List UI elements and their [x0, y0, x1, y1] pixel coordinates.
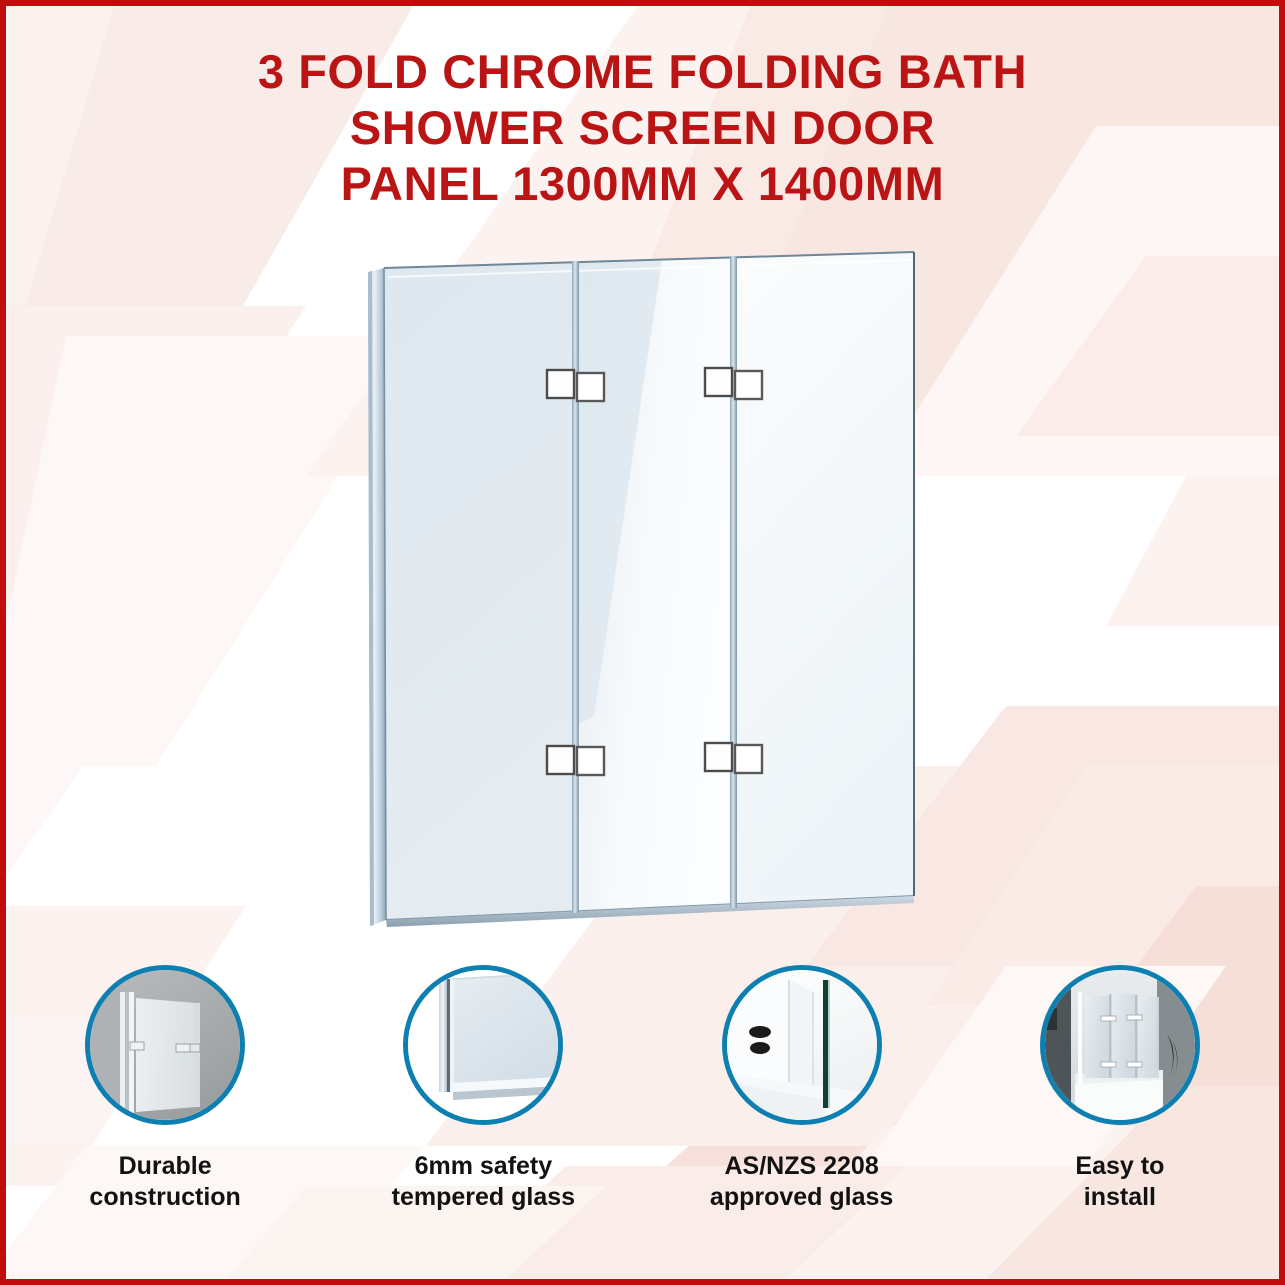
feature-item: Durable construction [6, 965, 324, 1275]
feature-circle [722, 965, 882, 1125]
page-title: 3 FOLD CHROME FOLDING BATH SHOWER SCREEN… [0, 44, 1285, 212]
folded-screen-hinge-icon [90, 970, 240, 1120]
title-line-3: PANEL 1300MM X 1400MM [0, 156, 1285, 212]
feature-list: Durable construction [6, 965, 1279, 1275]
feature-caption: 6mm safety tempered glass [368, 1151, 598, 1213]
shower-screen-graphic [362, 246, 932, 946]
glass-panel-edge-icon [408, 970, 558, 1120]
feature-circle [1040, 965, 1200, 1125]
feature-item: Easy to install [961, 965, 1279, 1275]
feature-caption-line-1: 6mm safety [368, 1151, 598, 1182]
product-image [362, 246, 932, 946]
feature-caption: Durable construction [50, 1151, 280, 1213]
feature-caption: Easy to install [1005, 1151, 1235, 1213]
feature-item: AS/NZS 2208 approved glass [643, 965, 961, 1275]
title-line-2: SHOWER SCREEN DOOR [0, 100, 1285, 156]
feature-caption-line-2: install [1005, 1182, 1235, 1213]
bathroom-corner-glass-icon [727, 970, 877, 1120]
feature-caption-line-1: Easy to [1005, 1151, 1235, 1182]
feature-caption-line-1: Durable [50, 1151, 280, 1182]
feature-caption-line-2: tempered glass [368, 1182, 598, 1213]
feature-caption-line-2: approved glass [687, 1182, 917, 1213]
feature-circle [85, 965, 245, 1125]
installed-bath-screen-icon [1045, 970, 1195, 1120]
feature-caption-line-1: AS/NZS 2208 [687, 1151, 917, 1182]
feature-item: 6mm safety tempered glass [324, 965, 642, 1275]
title-line-1: 3 FOLD CHROME FOLDING BATH [0, 44, 1285, 100]
feature-caption: AS/NZS 2208 approved glass [687, 1151, 917, 1213]
product-listing-image: 3 FOLD CHROME FOLDING BATH SHOWER SCREEN… [0, 0, 1285, 1285]
feature-circle [403, 965, 563, 1125]
feature-caption-line-2: construction [50, 1182, 280, 1213]
